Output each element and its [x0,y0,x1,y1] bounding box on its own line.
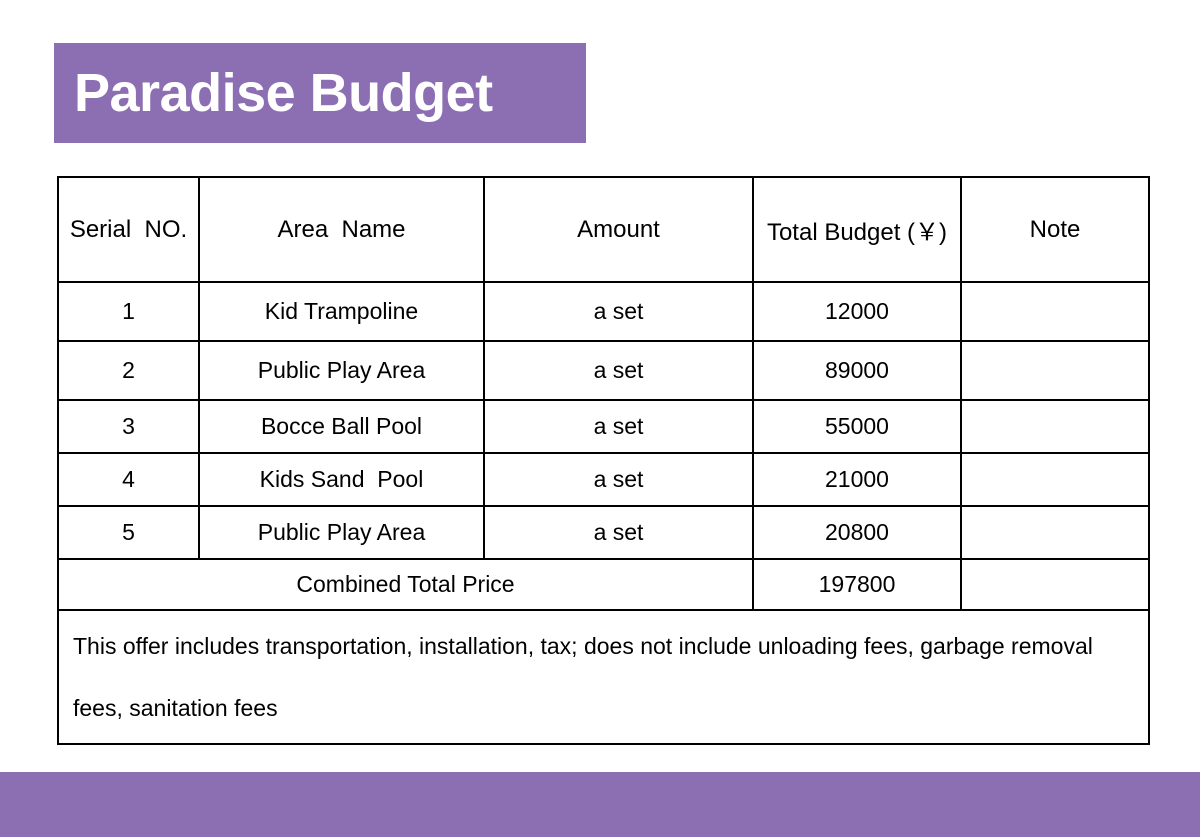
title-banner: Paradise Budget [54,43,586,143]
budget-table: Serial NO. Area Name Amount Total Budget… [57,176,1150,745]
table-total-row: Combined Total Price 197800 [58,559,1149,610]
cell-area: Kids Sand Pool [199,453,484,506]
cell-amount: a set [484,400,753,453]
cell-serial: 2 [58,341,199,400]
cell-amount: a set [484,453,753,506]
cell-serial: 5 [58,506,199,559]
column-header-budget: Total Budget (￥) [753,177,961,282]
table-header-row: Serial NO. Area Name Amount Total Budget… [58,177,1149,282]
cell-note [961,453,1149,506]
cell-note [961,341,1149,400]
column-header-area: Area Name [199,177,484,282]
table-row: 3 Bocce Ball Pool a set 55000 [58,400,1149,453]
cell-budget: 21000 [753,453,961,506]
total-label: Combined Total Price [58,559,753,610]
cell-note [961,506,1149,559]
cell-serial: 4 [58,453,199,506]
cell-note [961,400,1149,453]
footnote-text: This offer includes transportation, inst… [58,610,1149,744]
slide-canvas: Paradise Budget Serial NO. Area Name Amo… [0,0,1200,837]
cell-area: Public Play Area [199,506,484,559]
cell-area: Public Play Area [199,341,484,400]
cell-serial: 1 [58,282,199,341]
column-header-serial: Serial NO. [58,177,199,282]
total-value: 197800 [753,559,961,610]
table-row: 1 Kid Trampoline a set 12000 [58,282,1149,341]
cell-amount: a set [484,282,753,341]
cell-amount: a set [484,341,753,400]
table-footnote-row: This offer includes transportation, inst… [58,610,1149,744]
cell-budget: 55000 [753,400,961,453]
column-header-amount: Amount [484,177,753,282]
cell-budget: 89000 [753,341,961,400]
bottom-accent-band [0,772,1200,837]
cell-area: Kid Trampoline [199,282,484,341]
table-row: 5 Public Play Area a set 20800 [58,506,1149,559]
table-row: 4 Kids Sand Pool a set 21000 [58,453,1149,506]
cell-budget: 12000 [753,282,961,341]
cell-budget: 20800 [753,506,961,559]
cell-serial: 3 [58,400,199,453]
total-note [961,559,1149,610]
column-header-note: Note [961,177,1149,282]
cell-amount: a set [484,506,753,559]
table-row: 2 Public Play Area a set 89000 [58,341,1149,400]
page-title: Paradise Budget [54,66,493,120]
cell-area: Bocce Ball Pool [199,400,484,453]
cell-note [961,282,1149,341]
